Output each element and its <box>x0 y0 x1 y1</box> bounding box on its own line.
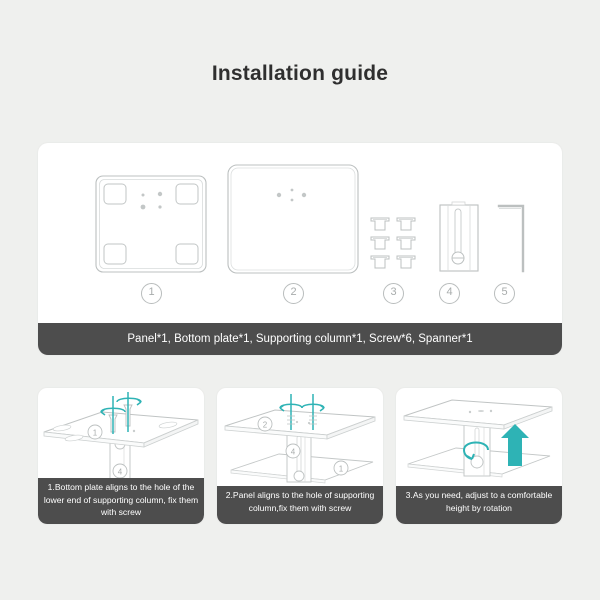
step-2-caption: 2.Panel aligns to the hole of supporting… <box>217 486 383 524</box>
part-supporting-column-drawing <box>440 202 478 271</box>
part-badge-2: 2 <box>283 283 304 304</box>
step-2-drawing: 2 4 1 <box>217 388 383 486</box>
step-3-illustration <box>396 388 562 486</box>
part-panel-drawing <box>96 176 206 272</box>
step-2-illustration: 2 4 1 <box>217 388 383 486</box>
panel-shape <box>225 410 375 439</box>
svg-text:4: 4 <box>118 467 123 476</box>
step-1-drawing: 1 4 <box>38 388 204 486</box>
part-badge-3: 3 <box>383 283 404 304</box>
part-screws-drawing <box>371 218 415 268</box>
step-card-2: 2 4 1 2.Panel aligns to the hole of supp… <box>217 388 383 524</box>
part-badge-1: 1 <box>141 283 162 304</box>
installation-guide-page: Installation guide <box>0 0 600 600</box>
svg-text:1: 1 <box>339 464 344 473</box>
parts-illustration-stage: 1 2 3 4 5 <box>38 143 562 311</box>
svg-text:4: 4 <box>291 447 296 456</box>
step-3-caption: 3.As you need, adjust to a comfortable h… <box>396 486 562 524</box>
step-3-drawing <box>396 388 562 486</box>
svg-text:2: 2 <box>263 420 268 429</box>
part-spanner-drawing <box>499 206 523 271</box>
panel-shape <box>404 400 552 429</box>
step-card-1: 1 4 1.Bottom plate aligns to the hole of… <box>38 388 204 524</box>
parts-caption-bar: Panel*1, Bottom plate*1, Supporting colu… <box>38 323 562 355</box>
page-title: Installation guide <box>0 62 600 86</box>
part-bottom-plate-drawing <box>228 165 358 273</box>
step-card-3: 3.As you need, adjust to a comfortable h… <box>396 388 562 524</box>
bottom-plate-shape <box>44 412 198 447</box>
step-1-caption: 1.Bottom plate aligns to the hole of the… <box>38 478 204 524</box>
parts-list-card: 1 2 3 4 5 Panel*1, Bottom plate*1, Suppo… <box>38 143 562 355</box>
part-badge-4: 4 <box>439 283 460 304</box>
svg-text:1: 1 <box>93 428 98 437</box>
part-badge-5: 5 <box>494 283 515 304</box>
step-1-illustration: 1 4 <box>38 388 204 486</box>
